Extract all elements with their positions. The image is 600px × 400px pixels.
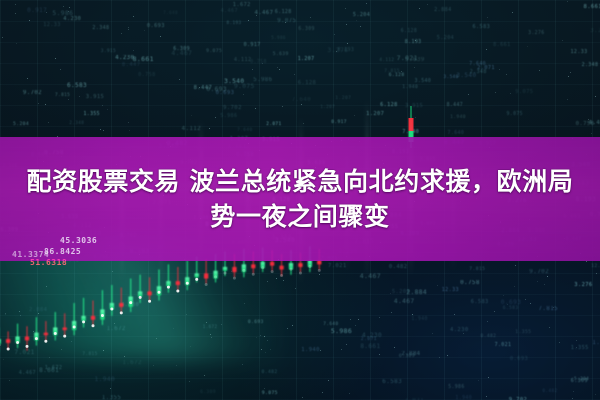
background-dot: [128, 27, 129, 28]
background-number: 4.230: [115, 55, 134, 61]
background-number: 3.276: [528, 31, 544, 36]
background-number: 3.915: [101, 49, 116, 54]
background-dot: [412, 314, 413, 315]
background-dot: [328, 380, 329, 381]
background-dot: [38, 103, 39, 104]
background-dot: [567, 1, 568, 2]
background-dot: [160, 36, 161, 37]
trendline-dot: [101, 314, 104, 317]
candle-body: [91, 316, 95, 320]
background-dot: [191, 115, 192, 116]
background-number: 8.661: [584, 4, 600, 10]
background-dot: [121, 33, 122, 34]
background-number: 9.075: [515, 89, 533, 95]
background-number: 7.021: [397, 54, 418, 62]
background-number: 4.112: [234, 57, 252, 63]
background-number: 6.583: [471, 299, 489, 305]
background-dot: [68, 99, 69, 100]
background-number: 1.940: [450, 115, 466, 120]
background-number: 4.112: [379, 58, 394, 63]
background-dot: [506, 74, 507, 75]
background-dot: [394, 347, 395, 348]
background-number: 8.447: [122, 62, 141, 68]
background-number: 2.348: [92, 25, 109, 31]
background-dot: [401, 71, 402, 72]
background-number: 3.276: [327, 47, 348, 54]
background-number: 0.917: [244, 42, 261, 48]
background-number: 0.693: [206, 86, 227, 93]
background-number: 0.482: [389, 264, 408, 270]
background-dot: [439, 357, 440, 358]
trendline-dot: [252, 273, 255, 276]
background-dot: [530, 303, 531, 304]
background-dot: [350, 319, 351, 320]
background-dot: [494, 311, 495, 312]
background-dot: [133, 50, 134, 51]
background-number: 1.940: [455, 395, 472, 400]
background-number: 1.940: [402, 85, 418, 90]
background-number: 6.583: [67, 82, 87, 89]
background-dot: [539, 70, 540, 71]
background-number: 0.693: [510, 356, 528, 362]
candle-body: [279, 266, 283, 270]
background-number: 8.661: [360, 343, 380, 350]
trendline-dot: [233, 277, 236, 280]
background-number: 6.583: [503, 306, 519, 311]
background-dot: [514, 286, 515, 287]
background-dot: [537, 281, 538, 282]
background-dot: [562, 40, 563, 41]
background-number: 6.128: [401, 29, 417, 34]
background-dot: [487, 17, 488, 18]
trendline-dot: [242, 269, 245, 272]
background-number: 5.986: [448, 385, 464, 390]
background-number: 6.128: [389, 73, 405, 78]
background-dot: [510, 93, 511, 94]
background-dot: [547, 276, 548, 277]
background-number: 6.309: [571, 378, 588, 384]
background-number: 9.702: [23, 90, 42, 96]
candle-body: [195, 273, 199, 277]
background-dot: [302, 397, 303, 398]
background-dot: [27, 78, 28, 79]
background-number: 0.482: [481, 334, 497, 339]
background-dot: [107, 109, 108, 110]
background-dot: [486, 396, 487, 397]
background-number: 7.021: [328, 263, 347, 269]
trendline-dot: [308, 265, 311, 268]
candle-body: [63, 327, 67, 330]
trendline-dot: [120, 311, 123, 314]
background-number: 5.639: [273, 52, 289, 57]
candle-body: [6, 339, 10, 343]
trendline-dot: [54, 332, 57, 335]
background-dot: [576, 347, 577, 348]
background-dot: [447, 355, 448, 356]
background-dot: [215, 117, 216, 118]
trendline-dot: [44, 340, 47, 343]
candle-body: [138, 291, 142, 296]
background-number: 9.075: [206, 49, 222, 54]
background-dot: [559, 342, 560, 343]
background-dot: [303, 123, 304, 124]
background-dot: [69, 7, 70, 8]
background-number: 4.230: [63, 16, 81, 22]
trendline-dot: [7, 347, 10, 350]
background-number: 1.355: [515, 330, 531, 335]
background-number: 1.355: [102, 395, 121, 400]
background-dot: [301, 104, 302, 105]
background-number: 1.207: [320, 105, 335, 110]
background-number: 5.986: [253, 77, 272, 83]
background-dot: [549, 327, 550, 328]
background-number: 1.355: [571, 345, 589, 351]
background-dot: [437, 285, 438, 286]
candle-body: [317, 261, 321, 265]
background-number: 7.815: [538, 306, 558, 312]
background-dot: [129, 130, 130, 131]
background-number: 7.815: [55, 93, 70, 98]
background-number: 2.348: [582, 62, 599, 68]
background-dot: [527, 46, 528, 47]
background-number: 5.204: [353, 12, 370, 18]
background-number: 3.276: [574, 282, 592, 288]
background-number: 6.583: [473, 24, 491, 30]
background-dot: [544, 284, 545, 285]
background-dot: [486, 49, 487, 50]
background-number: 1.672: [233, 2, 251, 8]
background-dot: [570, 72, 571, 73]
trendline-dot: [82, 320, 85, 323]
candle-body: [166, 281, 170, 286]
background-number: 5.204: [392, 289, 410, 295]
background-dot: [102, 105, 103, 106]
trendline-dot: [148, 300, 151, 303]
background-dot: [358, 319, 359, 320]
background-dot: [133, 16, 134, 17]
background-dot: [2, 37, 3, 38]
background-dot: [345, 8, 346, 9]
background-number: 1.940: [411, 317, 427, 322]
candle-body: [0, 339, 1, 344]
background-dot: [110, 388, 111, 389]
trendline-dot: [129, 301, 132, 304]
background-dot: [478, 380, 479, 381]
background-dot: [379, 354, 380, 355]
candle-body: [270, 262, 274, 266]
background-dot: [495, 92, 496, 93]
background-number: 12.33: [442, 287, 459, 293]
candle-body: [25, 337, 29, 341]
background-dot: [432, 333, 433, 334]
background-number: 2.884: [434, 7, 452, 13]
background-dot: [356, 20, 357, 21]
background-number: 6.309: [399, 354, 415, 359]
trendline-dot: [195, 278, 198, 281]
background-dot: [595, 394, 596, 395]
background-number: 6.128: [298, 80, 317, 86]
background-dot: [334, 34, 335, 35]
background-number: 0.917: [27, 7, 47, 14]
background-dot: [63, 6, 64, 7]
trendline-dot: [110, 308, 113, 311]
background-dot: [29, 20, 30, 21]
background-dot: [488, 377, 489, 378]
background-number: 8.193: [227, 21, 242, 26]
background-dot: [379, 317, 380, 318]
background-number: 0.917: [331, 120, 347, 125]
trendline-dot: [63, 335, 66, 338]
candle-body: [232, 267, 236, 272]
background-number: 2.348: [470, 69, 487, 75]
background-number: 4.467: [255, 10, 274, 16]
background-number: 2.071: [266, 122, 281, 127]
background-number: 6.128: [380, 102, 398, 108]
background-dot: [279, 69, 280, 70]
trendline-dot: [16, 341, 19, 344]
background-number: 9.702: [529, 269, 549, 275]
background-number: 4.467: [394, 298, 415, 305]
background-number: 6.583: [382, 379, 402, 385]
background-number: 5.986: [331, 327, 352, 335]
background-dot: [9, 380, 10, 381]
background-dot: [354, 115, 355, 116]
headline: 配资股票交易 波兰总统紧急向北约求援，欧洲局 势一夜之间骤变: [0, 137, 600, 261]
background-dot: [262, 63, 263, 64]
background-dot: [525, 299, 526, 300]
background-number: 0.482: [542, 389, 557, 394]
background-number: 5.204: [13, 122, 29, 127]
trendline-dot: [261, 266, 264, 269]
background-number: 8.447: [447, 103, 463, 108]
background-dot: [189, 381, 190, 382]
background-number: 1.207: [592, 340, 600, 346]
candle-body: [81, 316, 85, 321]
background-number: 7.021: [495, 342, 512, 348]
background-dot: [596, 273, 597, 274]
background-number: 7.640: [237, 128, 253, 133]
background-number: 12.33: [591, 264, 600, 269]
candle-body: [251, 264, 255, 268]
candle-body: [119, 303, 123, 307]
trendline-dot: [158, 291, 161, 294]
background-number: 0.758: [460, 280, 480, 286]
background-dot: [512, 12, 513, 13]
trendline-dot: [224, 271, 227, 274]
trendline-dot: [35, 337, 38, 340]
background-number: 9.075: [277, 18, 296, 24]
background-dot: [573, 391, 574, 392]
background-dot: [248, 20, 249, 21]
background-number: 8.661: [493, 42, 511, 48]
background-number: 4.467: [589, 120, 600, 126]
background-dot: [487, 321, 488, 322]
background-dot: [100, 129, 101, 130]
background-dot: [310, 17, 311, 18]
trendline-dot: [26, 345, 29, 348]
background-dot: [576, 340, 577, 341]
background-number: 4.467: [171, 50, 192, 57]
background-number: 7.640: [163, 11, 178, 16]
background-dot: [179, 79, 180, 80]
background-number: 7.815: [469, 267, 485, 272]
background-dot: [15, 4, 16, 5]
background-dot: [264, 388, 265, 389]
background-dot: [322, 392, 323, 393]
background-dot: [595, 96, 596, 97]
background-dot: [128, 29, 129, 30]
background-dot: [285, 22, 286, 23]
background-dot: [355, 325, 356, 326]
background-number: 4.112: [182, 126, 201, 132]
trendline-dot: [280, 274, 283, 277]
trendline-dot: [214, 275, 217, 278]
background-dot: [277, 67, 278, 68]
background-dot: [568, 76, 569, 77]
background-number: 1.940: [95, 376, 116, 383]
background-number: 0.758: [138, 72, 156, 78]
background-dot: [419, 8, 420, 9]
background-number: 3.915: [86, 94, 105, 100]
news-banner-image: 0.4828.6619.7024.2307.6402.8840.6936.309…: [0, 0, 600, 400]
background-number: 3.276: [590, 28, 600, 34]
background-number: 1.355: [84, 112, 100, 117]
background-number: 4.230: [450, 327, 469, 333]
background-dot: [499, 69, 500, 70]
candle-body: [147, 291, 151, 295]
candle-body: [223, 267, 227, 271]
background-dot: [209, 128, 210, 129]
background-dot: [68, 11, 69, 12]
candle-body: [204, 273, 208, 278]
background-number: 4.467: [221, 8, 238, 14]
trendline-dot: [92, 324, 95, 327]
background-dot: [282, 106, 283, 107]
background-dot: [346, 344, 347, 345]
background-number: 5.986: [220, 113, 237, 119]
background-number: 6.309: [200, 390, 216, 395]
background-dot: [463, 333, 464, 334]
background-dot: [45, 104, 46, 105]
trendline-dot: [271, 270, 274, 273]
background-dot: [199, 87, 200, 88]
background-dot: [144, 30, 145, 31]
background-dot: [346, 24, 347, 25]
background-number: 2.071: [361, 337, 377, 342]
background-number: 1.207: [298, 56, 315, 62]
headline-line-1: 配资股票交易 波兰总统紧急向北约求援，欧洲局: [27, 167, 574, 197]
background-dot: [567, 99, 568, 100]
background-number: 1.207: [335, 96, 351, 101]
trendline-dot: [73, 326, 76, 329]
background-number: 2.348: [69, 121, 84, 126]
background-dot: [454, 314, 455, 315]
headline-line-2: 势一夜之间骤变: [210, 202, 389, 232]
candle-body: [44, 333, 48, 336]
background-number: 3.540: [224, 78, 244, 85]
background-number: 12.33: [571, 49, 588, 55]
background-number: 7.640: [323, 322, 338, 327]
background-number: 5.986: [271, 35, 286, 40]
trendline-dot: [176, 289, 179, 292]
background-dot: [349, 393, 350, 394]
background-number: 6.128: [275, 9, 292, 15]
background-dot: [128, 122, 129, 123]
background-dot: [588, 119, 589, 120]
background-dot: [243, 94, 244, 95]
background-number: 7.640: [448, 130, 465, 136]
background-number: 0.758: [250, 60, 266, 65]
background-dot: [414, 67, 415, 68]
background-number: 4.467: [360, 272, 381, 280]
background-dot: [468, 94, 469, 95]
background-number: 0.693: [147, 23, 165, 29]
trendline-dot: [139, 296, 142, 299]
background-dot: [391, 312, 392, 313]
background-dot: [103, 130, 104, 131]
trendline-dot: [318, 269, 321, 272]
background-dot: [60, 69, 61, 70]
background-dot: [360, 26, 361, 27]
background-dot: [507, 304, 508, 305]
trendline-dot: [186, 282, 189, 285]
background-dot: [515, 265, 516, 266]
background-dot: [16, 43, 17, 44]
background-number: 3.540: [415, 78, 432, 84]
background-number: 8.193: [405, 39, 422, 45]
background-dot: [347, 43, 348, 44]
candle-body: [176, 281, 180, 285]
background-dot: [252, 69, 253, 70]
background-dot: [503, 295, 504, 296]
background-number: 9.702: [223, 105, 242, 111]
background-dot: [341, 349, 342, 350]
trendline-dot: [205, 283, 208, 286]
background-number: 5.204: [437, 35, 454, 41]
background-dot: [15, 13, 16, 14]
background-dot: [366, 3, 367, 4]
background-number: 6.309: [298, 27, 314, 32]
trendline-dot: [167, 286, 170, 289]
background-dot: [79, 96, 80, 97]
background-dot: [294, 74, 295, 75]
background-dot: [591, 133, 592, 134]
background-number: 12.33: [43, 22, 61, 28]
trendline-dot: [290, 268, 293, 271]
background-dot: [55, 58, 56, 59]
background-number: 7.640: [292, 97, 311, 103]
background-dot: [48, 122, 49, 123]
background-number: 7.640: [469, 61, 486, 67]
background-number: 9.075: [507, 112, 523, 117]
background-dot: [256, 15, 257, 16]
background-dot: [572, 398, 573, 399]
background-number: 9.075: [262, 391, 278, 396]
background-dot: [427, 4, 428, 5]
background-dot: [255, 108, 256, 109]
background-number: 1.207: [366, 111, 384, 117]
